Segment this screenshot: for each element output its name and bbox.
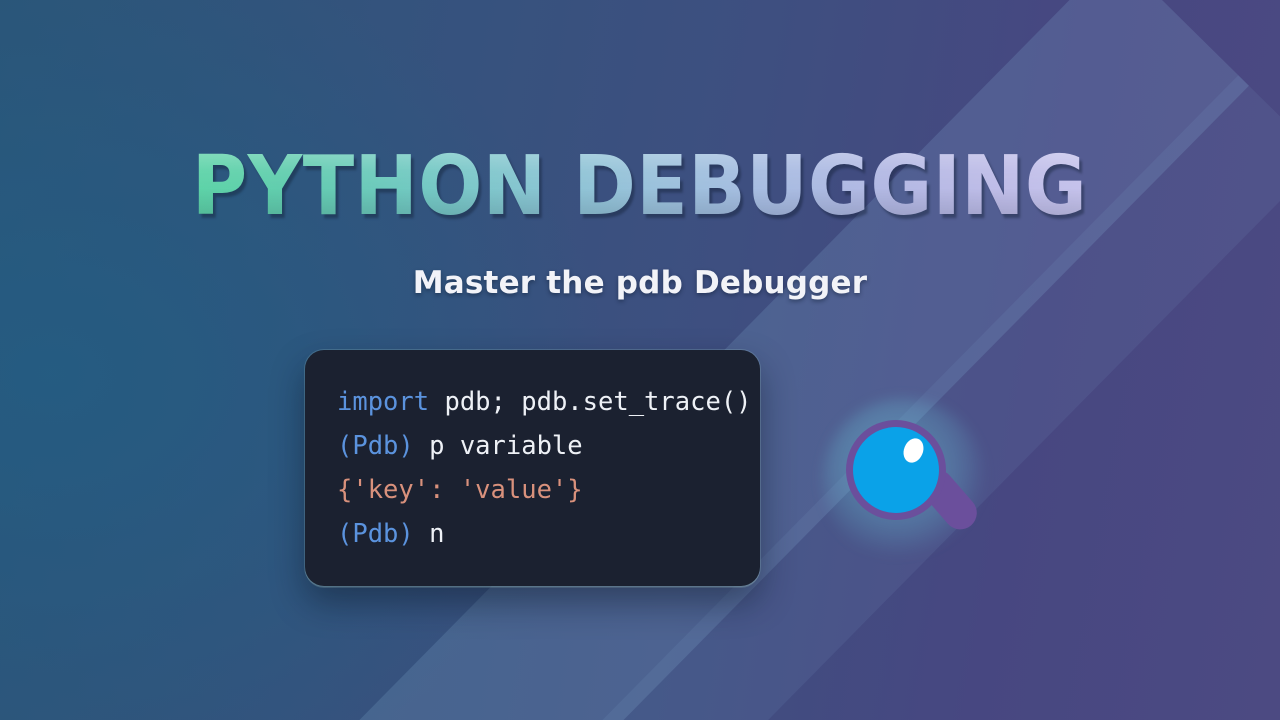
magnifier-lens — [853, 427, 939, 513]
page-title-text: PYTHON DEBUGGING — [192, 139, 1087, 234]
code-text-dict-output: {'key': 'value'} — [337, 475, 583, 505]
magnifying-glass-icon — [836, 412, 972, 548]
title-container: PYTHON DEBUGGING PYTHON DEBUGGING — [0, 146, 1280, 228]
code-line-next: (Pdb) n — [337, 512, 760, 556]
code-text-next-command: n — [414, 519, 445, 549]
code-text-import-rest: pdb; pdb.set_trace() — [429, 387, 751, 417]
page-subtitle: Master the pdb Debugger — [0, 265, 1280, 301]
code-line-output: {'key': 'value'} — [337, 468, 760, 512]
code-keyword-import: import — [337, 387, 429, 417]
code-card: import pdb; pdb.set_trace() (Pdb) p vari… — [305, 350, 760, 586]
slide-canvas: PYTHON DEBUGGING PYTHON DEBUGGING Master… — [0, 0, 1280, 720]
code-prompt-pdb-1: (Pdb) — [337, 431, 414, 461]
code-content: import pdb; pdb.set_trace() (Pdb) p vari… — [337, 380, 760, 556]
page-title: PYTHON DEBUGGING PYTHON DEBUGGING — [192, 146, 1087, 228]
code-prompt-pdb-2: (Pdb) — [337, 519, 414, 549]
code-text-print-command: p variable — [414, 431, 583, 461]
code-line-import: import pdb; pdb.set_trace() — [337, 380, 760, 424]
code-line-print: (Pdb) p variable — [337, 424, 760, 468]
